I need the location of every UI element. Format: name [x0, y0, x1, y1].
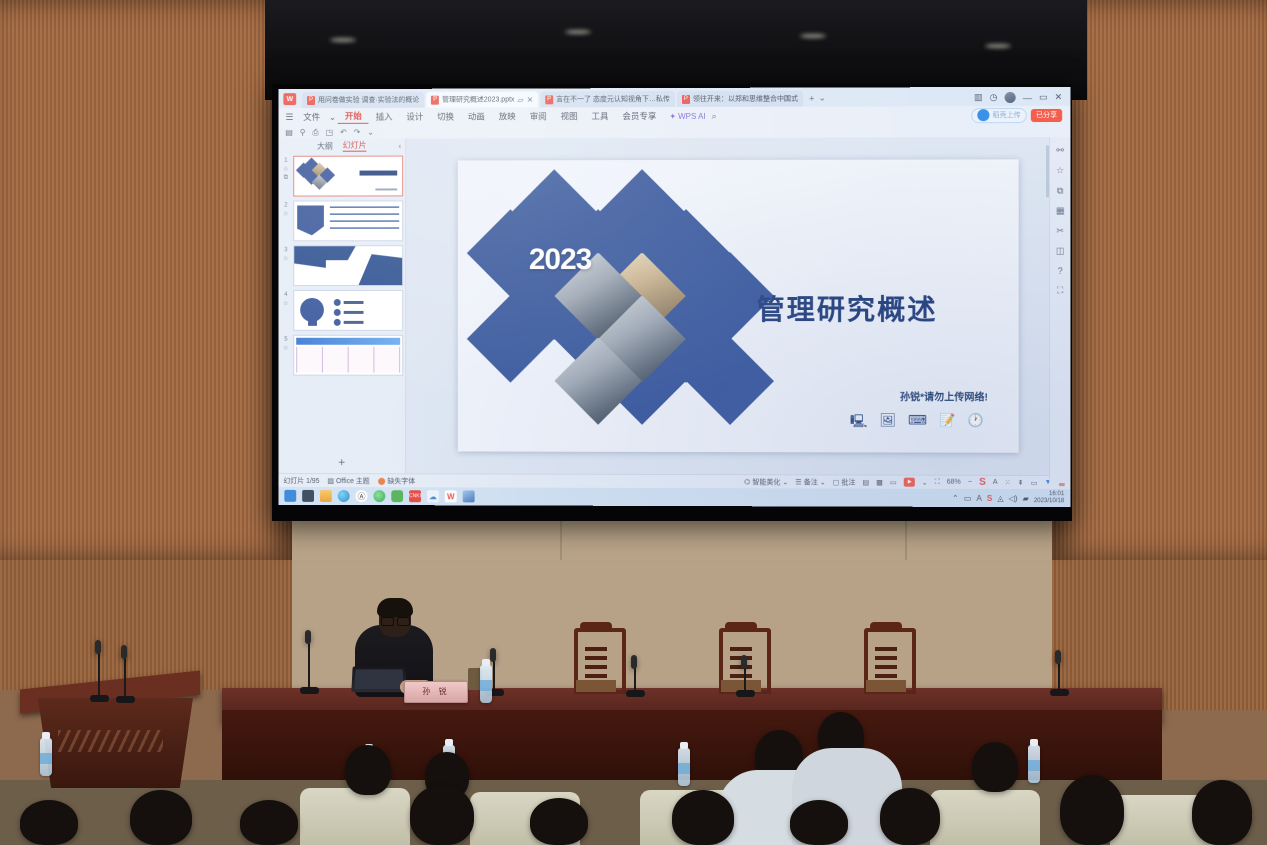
panel-tabs: 大纲 幻灯片 ‹: [278, 139, 405, 153]
beautify-icon: ⌬: [744, 478, 750, 486]
wps-logo-icon: W: [283, 93, 296, 105]
fit-to-window-icon[interactable]: ⛶: [935, 478, 940, 486]
volume-icon[interactable]: ◁): [1009, 493, 1018, 502]
audience-head: [240, 800, 298, 845]
water-bottle: [40, 738, 52, 776]
slide-thumbnail-1[interactable]: [293, 156, 403, 197]
clock-icon: 🕐: [968, 413, 984, 435]
sogou-icon[interactable]: S: [987, 493, 992, 502]
chevron-down-icon: ⌄: [820, 478, 826, 486]
chart-icon[interactable]: ▦: [1056, 205, 1065, 216]
notes-button[interactable]: ☰ 备注 ⌄: [795, 477, 825, 487]
windows-taskbar: Ⓐ CNKI ☁ W ⌃ ▭ A S ◬ ◁) ▰ 16:01 20: [278, 487, 1070, 507]
slide-thumb-item[interactable]: 2 ☆: [280, 200, 403, 241]
star-icon[interactable]: ☆: [283, 166, 288, 173]
comments-button[interactable]: ▢ 批注: [833, 477, 856, 487]
work-area: 大纲 幻灯片 ‹ 1 ☆ ⧉: [278, 137, 1070, 475]
ime-mic-icon[interactable]: ⇞: [1018, 478, 1024, 486]
ribbon-tab-slideshow[interactable]: 放映: [492, 110, 523, 122]
upload-label: 稻壳上传: [992, 110, 1020, 120]
ime-dots-icon[interactable]: ⁙: [1005, 478, 1011, 486]
slide-number: 2: [284, 203, 287, 209]
start-button[interactable]: [284, 490, 296, 502]
speaker-hair: [377, 598, 413, 617]
battery-icon[interactable]: ▰: [1023, 494, 1029, 503]
ribbon-tab-file[interactable]: 文件: [296, 111, 327, 123]
slide-thumbnail-3[interactable]: [293, 245, 403, 286]
slide-author-note[interactable]: 孙锐*请勿上传网络!: [900, 388, 988, 403]
status-right-group: ⌬ 智能美化 ⌄ ☰ 备注 ⌄ ▢ 批注 ▤ ▩ ▭: [744, 476, 1065, 488]
new-tab-group[interactable]: + ⌄: [809, 93, 826, 107]
ribbon-tab-review[interactable]: 审阅: [523, 110, 554, 122]
ribbon-right-group: 稻壳上传 已分享: [971, 107, 1066, 122]
zoom-out-icon[interactable]: −: [968, 479, 972, 486]
document-tab[interactable]: 用问卷做实验 调查·实验法的概论: [302, 92, 424, 108]
thumb-meta: 1 ☆ ⧉: [280, 156, 291, 197]
water-bottle: [678, 748, 690, 786]
docer-upload-button[interactable]: 稻壳上传: [971, 107, 1027, 122]
wps-button[interactable]: W: [445, 490, 457, 502]
resource-icon[interactable]: ⛶: [1057, 285, 1063, 296]
notebook-icon: 📝: [939, 412, 955, 434]
beautify-button[interactable]: ⌬ 智能美化 ⌄: [744, 477, 788, 487]
edge-button[interactable]: [338, 490, 350, 502]
slide-navigator-panel: 大纲 幻灯片 ‹ 1 ☆ ⧉: [278, 139, 406, 474]
new-tab-button[interactable]: +: [809, 93, 814, 103]
audience-head: [345, 745, 391, 795]
tab-outline[interactable]: 大纲: [317, 140, 333, 151]
slide-thumb-item[interactable]: 5 ☆: [280, 335, 403, 376]
help-icon[interactable]: ◷: [990, 92, 998, 103]
photo-icon: 🖼: [879, 412, 896, 434]
ime-icon[interactable]: A: [976, 493, 981, 502]
theme-label: Office 主题: [336, 476, 370, 486]
app-menu-icon[interactable]: ☰: [282, 112, 296, 123]
audience-head: [1060, 775, 1124, 845]
slide-number: 4: [284, 292, 287, 298]
cloud-drive-button[interactable]: ☁: [427, 490, 439, 502]
wps-office-window: W 用问卷做实验 调查·实验法的概论 管理研究概述2023.pptx ▱ ✕ 言…: [278, 87, 1070, 507]
star-icon[interactable]: ☆: [1056, 165, 1064, 176]
ribbon-tab-transition[interactable]: 切换: [430, 111, 461, 123]
ribbon-tab-member[interactable]: 会员专享: [615, 110, 663, 122]
slide-counter: 幻灯片 1/95: [283, 475, 319, 485]
notes-label: 备注: [804, 477, 818, 487]
ribbon-tab-view[interactable]: 视图: [554, 110, 585, 122]
slide-number: 5: [284, 337, 287, 343]
slide-number: 1: [284, 158, 287, 164]
lower-left-wall: [0, 560, 292, 690]
share-button[interactable]: 已分享: [1031, 108, 1062, 121]
thumb-meta: 4 ☆: [280, 290, 291, 331]
slide-year-text[interactable]: 2023: [529, 243, 592, 277]
start-slideshow-button[interactable]: [904, 478, 915, 487]
water-bottle: [1028, 745, 1040, 783]
sidebar-toggle-icon[interactable]: ▥: [974, 92, 983, 103]
speaker-nameplate: 孙 锐: [404, 681, 468, 703]
audience-head: [672, 790, 734, 845]
slide-thumbnail-4[interactable]: [293, 290, 403, 331]
slide-canvas-area[interactable]: 2023 管理研究概述 孙锐*请勿上传网络! 🖳 🖼 ⌨ 📝 🕐: [406, 137, 1070, 475]
projection-screen: W 用问卷做实验 调查·实验法的概论 管理研究概述2023.pptx ▱ ✕ 言…: [278, 87, 1070, 507]
star-icon[interactable]: ☆: [283, 345, 288, 352]
tab-label: 言在不一了 态度元认知视角下…私传: [556, 94, 670, 104]
ceiling-light: [800, 34, 826, 38]
wps-ai-label: WPS AI: [678, 111, 706, 120]
save-icon[interactable]: ▤: [285, 128, 292, 137]
thumb-meta: 3 ☆: [280, 245, 291, 286]
normal-view-icon[interactable]: ▤: [862, 478, 869, 486]
audience-head: [20, 800, 78, 845]
comments-label: 批注: [841, 477, 855, 487]
presentation-file-icon: [307, 96, 315, 105]
sorter-view-icon[interactable]: ▩: [876, 478, 883, 486]
star-icon[interactable]: ☆: [283, 300, 288, 307]
document-tab[interactable]: 言在不一了 态度元认知视角下…私传: [540, 91, 675, 107]
ceiling-light: [565, 30, 591, 34]
print-preview-icon[interactable]: ◳: [326, 128, 333, 137]
presentation-file-icon: [545, 95, 553, 104]
theme-icon: ▨: [327, 477, 334, 485]
redo-icon[interactable]: ↷: [354, 128, 361, 137]
slide-thumb-item[interactable]: 1 ☆ ⧉: [280, 156, 403, 197]
tray-expand-icon[interactable]: ⌃: [952, 493, 959, 502]
current-slide[interactable]: 2023 管理研究概述 孙锐*请勿上传网络! 🖳 🖼 ⌨ 📝 🕐: [457, 159, 1018, 453]
slide-thumbnail-5[interactable]: [293, 335, 403, 376]
ribbon-tab-insert[interactable]: 插入: [369, 111, 400, 123]
audience-seat: [930, 790, 1040, 845]
duplicate-icon[interactable]: ⧉: [1057, 185, 1064, 196]
window-controls: ▥ ◷ — ▭ ✕: [974, 92, 1067, 106]
ime-letter-icon[interactable]: A: [993, 479, 998, 486]
file-explorer-button[interactable]: [320, 490, 332, 502]
slide-title-text[interactable]: 管理研究概述: [757, 288, 938, 328]
ie-button[interactable]: [373, 490, 385, 502]
nameplate-text: 孙 锐: [405, 682, 467, 702]
cloud-icon: [977, 109, 989, 121]
speaker-laptop: [351, 667, 406, 693]
ribbon-menu-bar: ☰ 文件 ⌄ 开始 插入 设计 切换 动画 放映 审阅 视图 工具 会员专享 ✦…: [278, 106, 1070, 126]
task-view-button[interactable]: [302, 490, 314, 502]
cut-icon[interactable]: ✂: [1056, 226, 1064, 237]
comment-icon: ▢: [833, 478, 840, 486]
add-slide-button[interactable]: +: [278, 453, 405, 473]
chevron-down-icon: ⌄: [782, 478, 788, 486]
ribbon-tab-design[interactable]: 设计: [399, 111, 430, 123]
audience-head: [410, 785, 474, 845]
photo-of-lecture-hall: 孙 锐: [0, 0, 1267, 845]
clock-date: 2023/10/18: [1034, 498, 1064, 505]
audience-head: [972, 742, 1018, 792]
thumb-meta: 5 ☆: [280, 335, 291, 376]
audience-head: [790, 800, 848, 845]
chair: [568, 628, 624, 700]
notes-icon: ☰: [795, 478, 801, 486]
slideshow-dropdown-icon[interactable]: ⌄: [922, 478, 928, 486]
duplicate-icon[interactable]: ⧉: [284, 175, 288, 182]
more-icon[interactable]: ⌄: [367, 128, 374, 137]
help-icon[interactable]: ?: [1058, 266, 1063, 276]
zoom-level[interactable]: 68%: [947, 479, 961, 486]
wifi-icon[interactable]: ◬: [997, 493, 1003, 502]
ribbon-tab-home[interactable]: 开始: [338, 110, 369, 124]
user-avatar[interactable]: [1005, 92, 1016, 103]
system-tray: ⌃ ▭ A S ◬ ◁) ▰ 16:01 2023/10/18: [952, 491, 1064, 505]
cnki-button[interactable]: CNKI: [409, 490, 421, 502]
left-wood-wall: [0, 0, 292, 560]
ai-app-button[interactable]: Ⓐ: [356, 490, 368, 502]
settings-sliders-icon[interactable]: ⚯: [1056, 145, 1064, 156]
star-icon[interactable]: ☆: [283, 210, 288, 217]
search-icon[interactable]: ⌕: [712, 110, 717, 121]
minimize-button[interactable]: —: [1023, 92, 1032, 102]
warning-icon: ⬤: [378, 477, 386, 485]
audience-head: [130, 790, 192, 845]
clock-time: 16:01: [1034, 491, 1064, 498]
undo-icon[interactable]: ↶: [340, 128, 347, 137]
pin-icon[interactable]: ⚲: [300, 128, 306, 137]
slide-thumb-item[interactable]: 3 ☆: [280, 245, 403, 286]
ribbon-tab-tools[interactable]: 工具: [584, 110, 615, 122]
tab-slides[interactable]: 幻灯片: [343, 140, 367, 152]
collapse-panel-icon[interactable]: ‹: [399, 141, 402, 150]
audience-head: [880, 788, 940, 845]
photos-button[interactable]: [463, 490, 475, 502]
tab-list-dropdown-icon[interactable]: ⌄: [818, 93, 826, 104]
font-warning-label: 缺失字体: [387, 476, 415, 486]
right-side-toolbar: ⚯ ☆ ⧉ ▦ ✂ ◫ ? ⛶: [1049, 137, 1070, 483]
ime-panel-icon[interactable]: ▭: [1031, 478, 1038, 486]
tab-label: 领往开来：以郑和思维整合中国式: [693, 94, 798, 104]
document-tab[interactable]: 领往开来：以郑和思维整合中国式: [677, 91, 803, 107]
slide-thumb-item[interactable]: 4 ☆: [280, 290, 403, 331]
audience-seat: [300, 788, 410, 845]
presentation-file-icon: [431, 95, 439, 104]
water-bottle: [480, 665, 492, 703]
tab-label: 用问卷做实验 调查·实验法的概论: [318, 95, 419, 105]
sogou-ime-icon[interactable]: S: [979, 477, 986, 488]
keyboard-icon: ⌨: [908, 412, 927, 434]
audience-head: [530, 798, 588, 845]
keyboard-icon[interactable]: ▭: [964, 493, 972, 502]
tab-close-icon[interactable]: ✕: [527, 95, 534, 104]
monitor-icon: 🖳: [850, 412, 867, 434]
slide-thumbnail-list[interactable]: 1 ☆ ⧉: [278, 153, 405, 454]
speaker-glasses: [381, 617, 409, 624]
file-caret-icon[interactable]: ⌄: [327, 111, 338, 122]
ribbon-tab-animation[interactable]: 动画: [461, 111, 492, 123]
slide-thumbnail-2[interactable]: [293, 200, 403, 241]
theme-chip[interactable]: ▨ Office 主题: [327, 476, 369, 486]
ai-sparkle-icon: ✦: [669, 111, 676, 120]
print-icon[interactable]: ⎙: [312, 127, 318, 137]
ceiling-light: [330, 38, 356, 42]
presentation-file-icon: [682, 94, 690, 103]
slide-footer-icons: 🖳 🖼 ⌨ 📝 🕐: [850, 412, 984, 434]
chair: [858, 628, 914, 700]
window-tab-bar: W 用问卷做实验 调查·实验法的概论 管理研究概述2023.pptx ▱ ✕ 言…: [278, 87, 1070, 108]
reading-view-icon[interactable]: ▭: [890, 478, 897, 486]
close-button[interactable]: ✕: [1055, 92, 1063, 103]
tab-pin-icon[interactable]: ▱: [517, 95, 523, 104]
wps-ai-button[interactable]: ✦ WPS AI: [669, 111, 705, 120]
font-warning-chip[interactable]: ⬤ 缺失字体: [378, 476, 416, 486]
ceiling-light: [985, 44, 1011, 48]
tab-label: 管理研究概述2023.pptx: [442, 94, 514, 104]
audience-head: [1192, 780, 1252, 845]
document-tab-active[interactable]: 管理研究概述2023.pptx ▱ ✕: [426, 91, 538, 107]
star-icon[interactable]: ☆: [283, 255, 288, 262]
podium-carving: [58, 730, 163, 752]
slide-number: 3: [284, 247, 287, 253]
taskbar-clock[interactable]: 16:01 2023/10/18: [1034, 491, 1064, 505]
thumb-meta: 2 ☆: [280, 201, 291, 242]
layout-icon[interactable]: ◫: [1056, 246, 1065, 257]
green-app-button[interactable]: [391, 490, 403, 502]
beautify-label: 智能美化: [752, 477, 780, 487]
maximize-button[interactable]: ▭: [1039, 92, 1048, 103]
